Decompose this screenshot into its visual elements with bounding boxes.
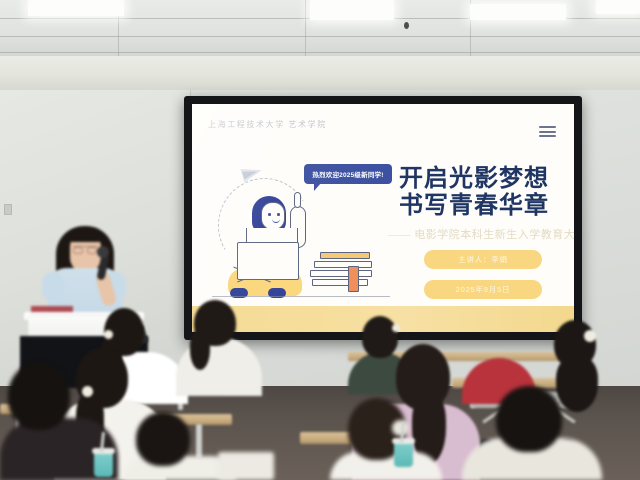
ceiling-light-panel — [28, 0, 124, 16]
ceiling-grid-line — [305, 0, 306, 58]
speech-bubble-text: 热烈欢迎2025级新同学! — [312, 169, 383, 179]
book — [310, 270, 372, 277]
university-logo: 上海工程技术大学 艺术学院 — [208, 119, 327, 130]
illustration-pointing-finger — [294, 192, 301, 208]
pill-presenter-label: 主讲人：李娟 — [458, 254, 508, 265]
illustration-laptop — [237, 242, 299, 280]
book — [320, 252, 370, 259]
pill-date-label: 2025年9月5日 — [456, 284, 511, 295]
audience-head — [496, 386, 562, 452]
slide-headline: 开启光影梦想 书写青春华章 — [399, 166, 567, 220]
desk-leg — [196, 424, 202, 458]
screen-surface: 上海工程技术大学 艺术学院 热烈欢迎2025级新同学! — [192, 104, 574, 332]
book — [314, 261, 372, 268]
slide-pill-presenter: 主讲人：李娟 — [424, 250, 542, 269]
slide-pill-date: 2025年9月5日 — [424, 280, 542, 299]
book-upright — [348, 266, 359, 292]
illustration-smile — [272, 219, 280, 223]
hair-clip — [584, 330, 596, 342]
hair-tie — [82, 386, 93, 397]
audience-head — [136, 412, 190, 466]
glasses-lens — [73, 247, 83, 254]
headline-line-1: 开启光影梦想 — [399, 166, 567, 193]
ceiling-sensor-icon — [404, 22, 409, 29]
speech-bubble: 热烈欢迎2025级新同学! — [304, 164, 392, 184]
illustration-book-stack — [310, 252, 378, 298]
illustration-eye — [268, 213, 271, 216]
audience-head — [362, 316, 398, 358]
hamburger-icon[interactable] — [539, 126, 556, 137]
ceiling-light-panel — [470, 4, 566, 20]
slide-illustration: 热烈欢迎2025级新同学! — [206, 156, 396, 306]
presenter-fringe — [68, 227, 103, 242]
slide-subtitle: —— 电影学院本科生新生入学教育大会 — [388, 226, 574, 242]
audience-head — [8, 362, 70, 430]
ceiling-soffit — [0, 56, 640, 92]
tissue-box — [218, 452, 274, 480]
ceiling-light-panel — [596, 0, 640, 14]
hair-tie — [104, 330, 113, 339]
ceiling-light-panel — [310, 0, 394, 20]
drink-cup — [394, 442, 413, 467]
glasses-lens — [87, 247, 97, 254]
cup-lid — [92, 448, 115, 454]
illustration-face — [261, 202, 285, 230]
hair-tie — [392, 324, 400, 332]
headline-line-2: 书写青春华章 — [399, 193, 567, 220]
lecture-hall-photo: 上海工程技术大学 艺术学院 热烈欢迎2025级新同学! — [0, 0, 640, 480]
ponytail — [556, 356, 598, 412]
ceiling-grid-line — [0, 52, 640, 53]
presenter-sleeve — [42, 272, 64, 302]
ponytail — [190, 330, 210, 370]
cup-lid — [392, 438, 415, 444]
presentation-slide: 上海工程技术大学 艺术学院 热烈欢迎2025级新同学! — [192, 104, 574, 332]
drink-cup — [94, 452, 113, 477]
illustration-eye — [277, 213, 280, 216]
presenter-glasses-icon — [73, 246, 98, 253]
illustration-ground-line — [212, 296, 390, 297]
microphone-head — [97, 246, 109, 258]
ceiling-grid-line — [0, 36, 640, 37]
book — [312, 279, 368, 286]
power-outlet-icon — [4, 204, 12, 215]
display-screen[interactable]: 上海工程技术大学 艺术学院 热烈欢迎2025级新同学! — [184, 96, 582, 340]
